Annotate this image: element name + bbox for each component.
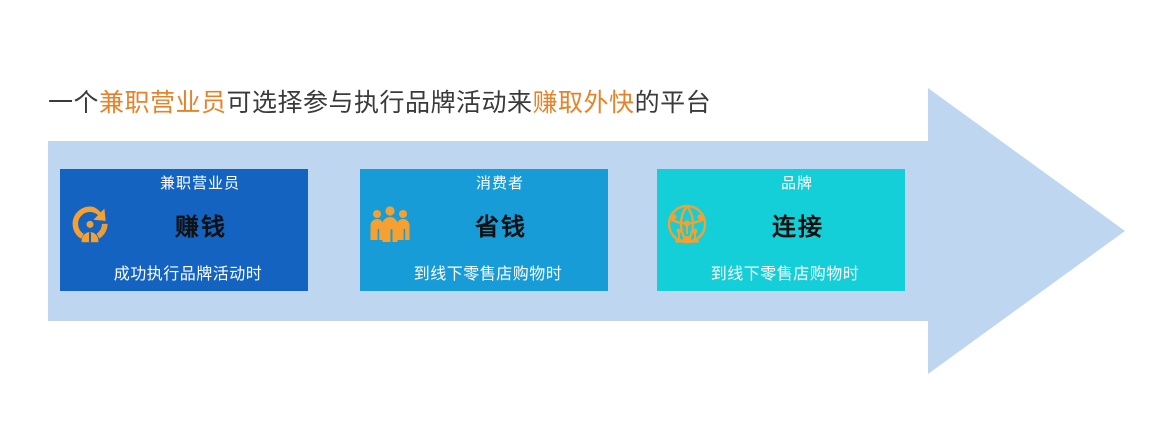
- card-header-label: 兼职营业员: [60, 174, 308, 194]
- headline-segment-2-highlight: 兼职营业员: [99, 89, 227, 117]
- value-cards-row: 兼职营业员 赚钱 成功执行品牌活动时: [0, 0, 1150, 430]
- card-footer-label: 到线下零售店购物时: [360, 264, 608, 286]
- card-main-label: 连接: [657, 213, 905, 243]
- headline-segment-5: 的平台: [635, 89, 712, 117]
- card-consumer[interactable]: 消费者 省钱 到线下零售店购物时: [360, 169, 608, 291]
- card-main-label: 省钱: [360, 213, 608, 243]
- card-footer-label: 到线下零售店购物时: [657, 264, 905, 286]
- card-header-label: 品牌: [657, 174, 905, 194]
- slide-canvas: 一个兼职营业员可选择参与执行品牌活动来赚取外快的平台: [0, 0, 1150, 430]
- page-title: 一个兼职营业员可选择参与执行品牌活动来赚取外快的平台: [48, 86, 711, 120]
- headline-segment-1: 一个: [48, 89, 99, 117]
- card-part-time-clerk[interactable]: 兼职营业员 赚钱 成功执行品牌活动时: [60, 169, 308, 291]
- card-main-label: 赚钱: [60, 213, 308, 243]
- headline-segment-3: 可选择参与执行品牌活动来: [227, 89, 533, 117]
- card-brand[interactable]: 品牌 连接 到线下零售店购物时: [657, 169, 905, 291]
- headline-segment-4-highlight: 赚取外快: [533, 89, 635, 117]
- card-footer-label: 成功执行品牌活动时: [60, 264, 308, 286]
- card-header-label: 消费者: [360, 174, 608, 194]
